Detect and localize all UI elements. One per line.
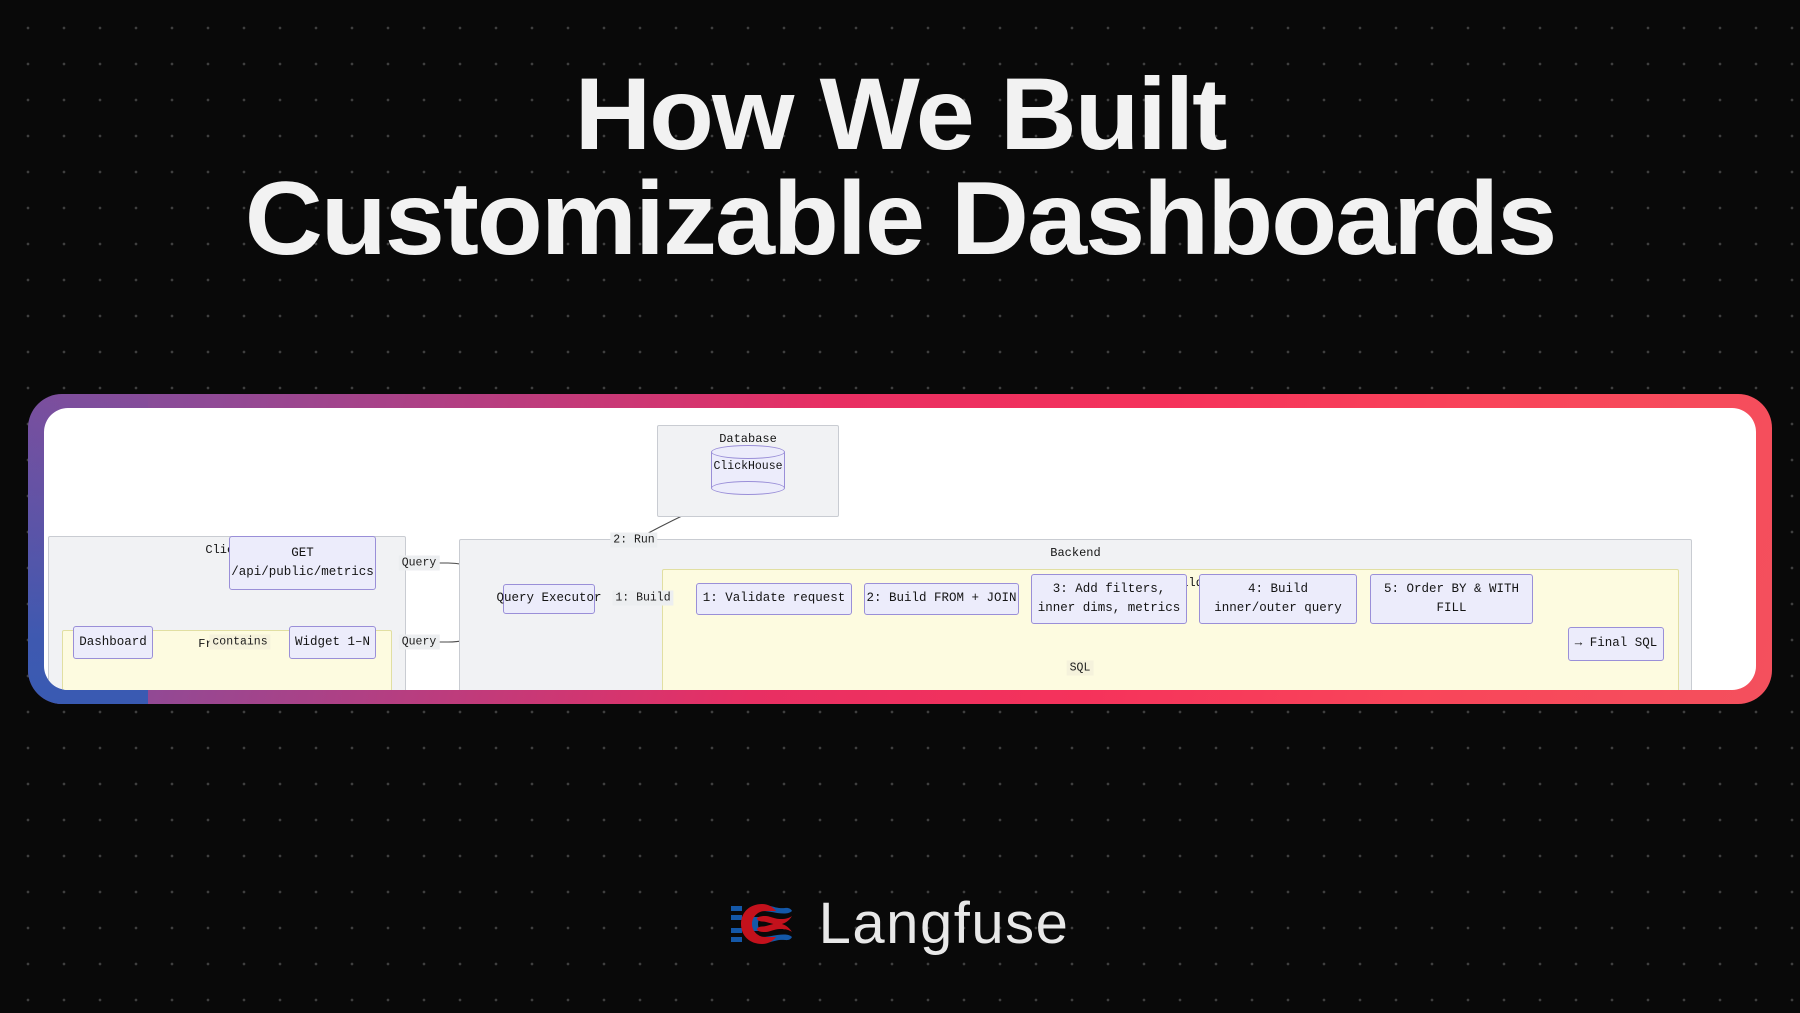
- node-step-3-line2: inner dims, metrics: [1038, 599, 1181, 618]
- node-query-executor[interactable]: Query Executor: [503, 584, 595, 614]
- node-step-2-label: 2: Build FROM + JOIN: [866, 589, 1016, 608]
- edge-label-run: 2: Run: [610, 533, 657, 548]
- node-get-endpoint-line2: /api/public/metrics: [231, 563, 374, 582]
- node-step-4-line1: 4: Build: [1248, 580, 1308, 599]
- node-query-executor-label: Query Executor: [496, 589, 601, 608]
- node-widget[interactable]: Widget 1–N: [289, 626, 376, 659]
- edge-label-contains: contains: [209, 635, 270, 650]
- title-line-1: How We Built: [0, 62, 1800, 166]
- langfuse-logo-icon: [731, 900, 793, 948]
- node-get-endpoint[interactable]: GET /api/public/metrics: [229, 536, 376, 590]
- poster-canvas: How We Built Customizable Dashboards: [0, 0, 1800, 1013]
- node-widget-label: Widget 1–N: [295, 633, 370, 652]
- node-clickhouse[interactable]: ClickHouse: [711, 445, 785, 495]
- brand-wordmark: Langfuse: [819, 890, 1070, 957]
- footer-brand: Langfuse: [0, 890, 1800, 957]
- node-step-5[interactable]: 5: Order BY & WITH FILL: [1370, 574, 1533, 624]
- node-step-1[interactable]: 1: Validate request: [696, 583, 852, 615]
- edge-label-sql-back: SQL: [1067, 661, 1094, 676]
- node-dashboard-label: Dashboard: [79, 633, 147, 652]
- group-database-label: Database: [658, 432, 838, 446]
- node-step-2[interactable]: 2: Build FROM + JOIN: [864, 583, 1019, 615]
- group-backend-label: Backend: [460, 546, 1691, 560]
- diagram-card: Client Frontend Database Backend Query B…: [44, 408, 1756, 690]
- node-final-sql-label: → Final SQL: [1575, 634, 1658, 653]
- node-step-3[interactable]: 3: Add filters, inner dims, metrics: [1031, 574, 1187, 624]
- clickhouse-cylinder-bottom: [711, 481, 785, 495]
- node-step-5-line1: 5: Order BY & WITH: [1384, 580, 1519, 599]
- node-final-sql[interactable]: → Final SQL: [1568, 627, 1664, 661]
- node-get-endpoint-line1: GET: [291, 544, 314, 563]
- page-title: How We Built Customizable Dashboards: [0, 62, 1800, 272]
- gradient-card-frame: Client Frontend Database Backend Query B…: [28, 394, 1772, 704]
- node-step-5-line2: FILL: [1436, 599, 1466, 618]
- node-dashboard[interactable]: Dashboard: [73, 626, 153, 659]
- clickhouse-cylinder-top: [711, 445, 785, 459]
- node-step-4-line2: inner/outer query: [1214, 599, 1342, 618]
- edge-label-widget-query: Query: [399, 635, 440, 650]
- architecture-diagram: Client Frontend Database Backend Query B…: [44, 408, 1756, 690]
- node-step-3-line1: 3: Add filters,: [1053, 580, 1166, 599]
- node-step-4[interactable]: 4: Build inner/outer query: [1199, 574, 1357, 624]
- title-line-2: Customizable Dashboards: [0, 166, 1800, 272]
- node-step-1-label: 1: Validate request: [703, 589, 846, 608]
- edge-label-build: 1: Build: [612, 591, 673, 606]
- edge-label-get-query: Query: [399, 556, 440, 571]
- node-clickhouse-label: ClickHouse: [711, 460, 785, 473]
